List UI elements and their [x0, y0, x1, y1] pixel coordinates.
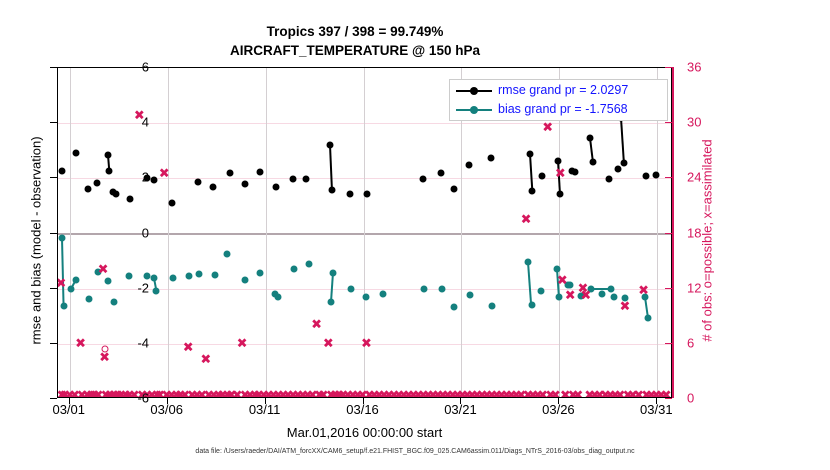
- obs-assimilated-marker: ✖: [573, 390, 584, 397]
- obs-assimilated-marker: ✖: [183, 342, 194, 355]
- series-connector: [329, 145, 333, 190]
- bias-point: [598, 290, 605, 297]
- y-axis-right-tick-mark: [665, 67, 672, 68]
- rmse-point: [195, 178, 202, 185]
- rmse-point: [586, 135, 593, 142]
- y-axis-right-tick-label: 24: [682, 170, 747, 185]
- bias-point: [554, 265, 561, 272]
- rmse-point: [571, 169, 578, 176]
- obs-assimilated-marker: ✖: [661, 390, 671, 397]
- y-axis-right-tick-label: 18: [682, 225, 747, 240]
- obs-assimilated-marker: ✖: [200, 354, 211, 367]
- bias-point: [362, 294, 369, 301]
- rmse-point: [127, 196, 134, 203]
- y-axis-left-tick-mark: [50, 288, 57, 289]
- y-axis-left-tick-label: -4: [29, 335, 154, 350]
- obs-assimilated-marker: ✖: [159, 167, 170, 180]
- rmse-point: [615, 165, 622, 172]
- rmse-point: [555, 158, 562, 165]
- bias-point: [610, 294, 617, 301]
- obs-assimilated-marker: ✖: [620, 301, 631, 314]
- rmse-point: [290, 175, 297, 182]
- obs-assimilated-marker: ✖: [98, 264, 109, 277]
- obs-assimilated-marker: ✖: [580, 290, 591, 303]
- bias-point: [196, 271, 203, 278]
- bias-point: [212, 272, 219, 279]
- obs-assimilated-marker: ✖: [521, 213, 532, 226]
- x-axis-tick-mark: [69, 398, 70, 404]
- y-axis-left-tick-label: -6: [29, 391, 154, 406]
- x-axis-tick-label: 03/06: [150, 402, 183, 417]
- rmse-point: [302, 175, 309, 182]
- y-axis-left-tick-mark: [50, 122, 57, 123]
- rmse-point: [450, 185, 457, 192]
- rmse-point: [104, 151, 111, 158]
- y-axis-right-tick-label: 0: [682, 391, 747, 406]
- figure-root: Tropics 397 / 398 = 99.749% AIRCRAFT_TEM…: [0, 0, 830, 470]
- y-axis-left-tick-mark: [50, 177, 57, 178]
- bias-point: [608, 286, 615, 293]
- y-axis-left-tick-label: 2: [29, 170, 154, 185]
- rmse-point: [72, 149, 79, 156]
- x-axis-label: Mar.01,2016 00:00:00 start: [57, 425, 672, 440]
- x-axis-tick-label: 03/21: [444, 402, 477, 417]
- bias-point: [242, 276, 249, 283]
- y-axis-right-tick-mark: [665, 343, 672, 344]
- rmse-point: [642, 173, 649, 180]
- rmse-point: [329, 186, 336, 193]
- x-axis-tick-mark: [265, 398, 266, 404]
- chart-title-line2: AIRCRAFT_TEMPERATURE @ 150 hPa: [0, 41, 710, 60]
- x-axis-tick-label: 03/26: [542, 402, 575, 417]
- rmse-point: [527, 150, 534, 157]
- bias-point: [467, 291, 474, 298]
- y-axis-left-tick-label: 4: [29, 115, 154, 130]
- obs-assimilated-marker: ✖: [638, 284, 649, 297]
- obs-assimilated-marker: ✖: [237, 337, 248, 350]
- bias-point: [305, 261, 312, 268]
- y-axis-left-tick-mark: [50, 233, 57, 234]
- bias-point: [328, 299, 335, 306]
- x-axis-tick-mark: [363, 398, 364, 404]
- bias-point: [537, 287, 544, 294]
- bias-point: [347, 286, 354, 293]
- y-axis-left-tick-label: -2: [29, 280, 154, 295]
- obs-assimilated-marker: ✖: [557, 275, 568, 288]
- y-axis-left-tick-mark: [50, 67, 57, 68]
- bias-point: [330, 270, 337, 277]
- legend-marker-bias: [470, 106, 478, 114]
- bias-point: [291, 265, 298, 272]
- rmse-point: [85, 186, 92, 193]
- rmse-point: [420, 175, 427, 182]
- legend-item-rmse[interactable]: rmse grand pr = 2.0297: [450, 81, 667, 101]
- rmse-point: [346, 191, 353, 198]
- obs-assimilated-marker: ✖: [99, 351, 110, 364]
- y-axis-right-tick-label: 12: [682, 280, 747, 295]
- series-connector: [529, 153, 533, 190]
- bias-point: [169, 275, 176, 282]
- bias-point: [421, 286, 428, 293]
- rmse-point: [272, 183, 279, 190]
- bias-point: [110, 298, 117, 305]
- legend[interactable]: rmse grand pr = 2.0297 bias grand pr = -…: [449, 79, 668, 121]
- rmse-point: [653, 172, 660, 179]
- legend-marker-rmse: [470, 87, 478, 95]
- rmse-point: [557, 190, 564, 197]
- series-connector: [527, 262, 532, 305]
- legend-label-rmse: rmse grand pr = 2.0297: [498, 83, 628, 97]
- y-axis-left-tick-label: 6: [29, 60, 154, 75]
- y-axis-right-tick-mark: [665, 288, 672, 289]
- bias-point: [450, 303, 457, 310]
- bias-point: [644, 314, 651, 321]
- y-axis-right-tick-mark: [665, 398, 672, 399]
- x-axis-tick-mark: [558, 398, 559, 404]
- rmse-point: [364, 191, 371, 198]
- rmse-point: [437, 169, 444, 176]
- bias-point: [438, 286, 445, 293]
- y-axis-right-tick-mark: [665, 177, 672, 178]
- right-axis-spine: [672, 67, 674, 398]
- rmse-point: [227, 170, 234, 177]
- vertical-gridline: [168, 68, 169, 397]
- rmse-point: [327, 141, 334, 148]
- rmse-point: [621, 160, 628, 167]
- bias-point: [60, 302, 67, 309]
- obs-assimilated-marker: ✖: [542, 121, 553, 134]
- legend-item-bias[interactable]: bias grand pr = -1.7568: [450, 100, 667, 120]
- y-axis-left-label: rmse and bias (model - observation): [29, 76, 44, 406]
- rmse-point: [538, 172, 545, 179]
- x-axis-tick-mark: [656, 398, 657, 404]
- rmse-point: [466, 162, 473, 169]
- vertical-gridline: [266, 68, 267, 397]
- obs-assimilated-marker: ✖: [361, 337, 372, 350]
- y-axis-right-tick-label: 30: [682, 115, 747, 130]
- y-axis-left-tick-mark: [50, 398, 57, 399]
- rmse-point: [113, 191, 120, 198]
- y-axis-right-tick-mark: [665, 233, 672, 234]
- data-file-note: data file: /Users/raeder/DAI/ATM_forcXX/…: [0, 448, 830, 455]
- bias-point: [528, 301, 535, 308]
- legend-label-bias: bias grand pr = -1.7568: [498, 102, 628, 116]
- bias-point: [380, 291, 387, 298]
- bias-point: [224, 251, 231, 258]
- x-axis-tick-label: 03/16: [346, 402, 379, 417]
- bias-point: [274, 294, 281, 301]
- obs-assimilated-marker: ✖: [555, 167, 566, 180]
- x-axis-tick-mark: [167, 398, 168, 404]
- chart-title-line1: Tropics 397 / 398 = 99.749%: [0, 22, 710, 41]
- bias-point: [85, 296, 92, 303]
- y-axis-left-tick-label: 0: [29, 225, 154, 240]
- y-axis-right-label: # of obs: o=possible; x=assimilated: [700, 76, 715, 406]
- chart-title: Tropics 397 / 398 = 99.749% AIRCRAFT_TEM…: [0, 22, 710, 60]
- bias-point: [256, 270, 263, 277]
- series-connector: [620, 118, 625, 164]
- bias-point: [126, 273, 133, 280]
- y-axis-right-tick-label: 36: [682, 60, 747, 75]
- rmse-point: [209, 183, 216, 190]
- x-axis-tick-label: 03/31: [640, 402, 673, 417]
- obs-assimilated-marker: ✖: [323, 337, 334, 350]
- x-axis-tick-mark: [460, 398, 461, 404]
- y-axis-right-tick-label: 6: [682, 335, 747, 350]
- obs-assimilated-marker: ✖: [565, 290, 576, 303]
- rmse-point: [487, 155, 494, 162]
- bias-point: [525, 258, 532, 265]
- rmse-point: [606, 175, 613, 182]
- x-axis-tick-label: 03/11: [249, 402, 281, 417]
- rmse-point: [242, 181, 249, 188]
- y-axis-left-tick-mark: [50, 343, 57, 344]
- y-axis-right-tick-mark: [665, 122, 672, 123]
- rmse-point: [589, 159, 596, 166]
- rmse-point: [168, 199, 175, 206]
- bias-point: [186, 273, 193, 280]
- rmse-point: [256, 169, 263, 176]
- obs-assimilated-marker: ✖: [311, 319, 322, 332]
- rmse-point: [529, 187, 536, 194]
- x-axis-tick-label: 03/01: [52, 402, 85, 417]
- series-connector: [61, 238, 65, 306]
- bias-point: [556, 294, 563, 301]
- bias-point: [488, 302, 495, 309]
